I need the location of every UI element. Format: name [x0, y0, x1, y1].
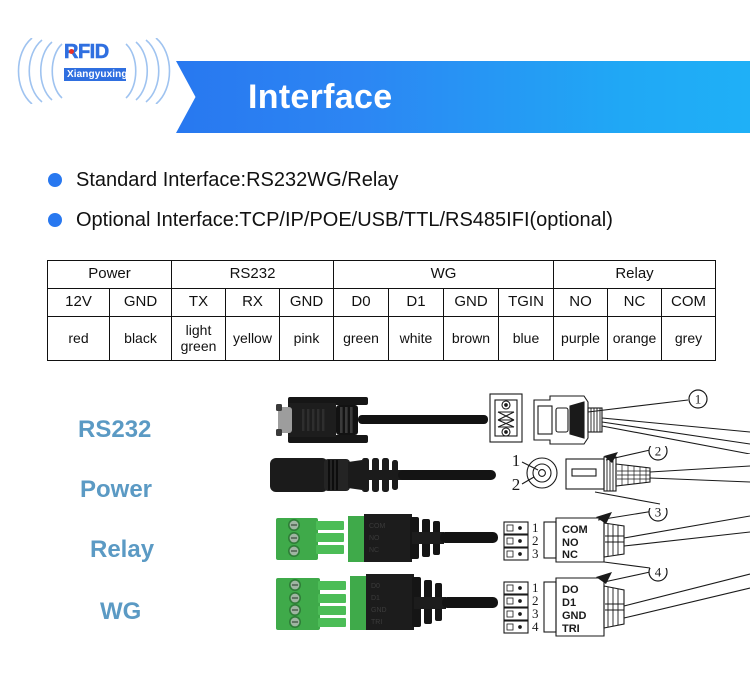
connector-diagram: RS232 Power Relay WG — [0, 378, 750, 690]
table-cell-color: blue — [499, 317, 554, 361]
table-cell-pin: TX — [172, 289, 226, 317]
table-cell-color: brown — [444, 317, 499, 361]
table-cell-pin: GND — [444, 289, 499, 317]
table-cell-pin: NC — [608, 289, 662, 317]
table-cell-color: black — [110, 317, 172, 361]
table-cell-color: light green — [172, 317, 226, 361]
brand-name-label: Xiangyuxing — [64, 68, 126, 81]
callout-number: 4 — [655, 568, 662, 580]
company-logo: RFID Xiangyuxing — [14, 34, 174, 108]
terminal-block-3pin-photo: COMNONC — [272, 512, 502, 564]
table-cell-pin: COM — [662, 289, 716, 317]
table-group-header: RS232 — [172, 261, 334, 289]
table-cell-color: pink — [280, 317, 334, 361]
callout-3: 3 — [649, 508, 667, 521]
diagram-row-label-wg: WG — [100, 598, 141, 626]
table-cell-color: red — [48, 317, 110, 361]
relay-signal-label-com: COM — [562, 524, 588, 536]
callout-number: 1 — [695, 392, 702, 407]
signal-waves-icon — [16, 38, 68, 104]
bullet-text: Optional Interface:TCP/IP/POE/USB/TTL/RS… — [76, 209, 613, 232]
table-group-header: Power — [48, 261, 172, 289]
svg-text:TRI: TRI — [371, 619, 382, 626]
terminal-block-4pin-photo: D0D1GNDTRI — [272, 574, 502, 632]
table-row-pins: 12V GND TX RX GND D0 D1 GND TGIN NO NC C… — [48, 289, 716, 317]
svg-text:GND: GND — [371, 607, 387, 614]
svg-text:D1: D1 — [371, 595, 380, 602]
table-cell-pin: TGIN — [499, 289, 554, 317]
dc-barrel-jack-linedrawing: 1 2 2 — [500, 446, 750, 506]
bullet-dot-icon — [48, 173, 62, 187]
table-cell-color: green — [334, 317, 389, 361]
table-cell-pin: NO — [554, 289, 608, 317]
table-group-header: WG — [334, 261, 554, 289]
list-item: Optional Interface:TCP/IP/POE/USB/TTL/RS… — [48, 200, 738, 240]
db9-connector-photo — [262, 390, 492, 450]
table-cell-color: white — [389, 317, 444, 361]
diagram-row-label-relay: Relay — [90, 536, 154, 564]
table-cell-pin: GND — [280, 289, 334, 317]
section-banner: Interface — [176, 61, 750, 133]
table-group-header: Relay — [554, 261, 716, 289]
page-header: RFID Xiangyuxing Interface — [0, 28, 750, 116]
db9-connector-linedrawing: 1 — [488, 388, 750, 454]
power-pin-label-2: 2 — [512, 475, 521, 494]
table-cell-color: orange — [608, 317, 662, 361]
callout-1: 1 — [689, 390, 707, 408]
interface-bullet-list: Standard Interface:RS232WG/Relay Optiona… — [48, 160, 738, 240]
power-pin-label-1: 1 — [512, 451, 521, 470]
table-cell-pin: RX — [226, 289, 280, 317]
wg-signal-label-do: DO — [562, 584, 579, 596]
relay-pin-label-3: 3 — [532, 546, 539, 561]
callout-4: 4 — [649, 568, 667, 581]
svg-text:D0: D0 — [371, 583, 380, 590]
list-item: Standard Interface:RS232WG/Relay — [48, 160, 738, 200]
relay-signal-label-nc: NC — [562, 549, 578, 561]
diagram-row-label-rs232: RS232 — [78, 416, 151, 444]
terminal-block-4pin-linedrawing: 1 2 3 4 DO D1 GND TRI 4 — [500, 568, 750, 640]
wg-pin-label-4: 4 — [532, 619, 539, 634]
svg-text:NC: NC — [369, 547, 379, 554]
table-cell-pin: 12V — [48, 289, 110, 317]
callout-number: 2 — [655, 446, 662, 459]
svg-text:COM: COM — [369, 523, 386, 530]
red-dot-icon — [69, 49, 74, 54]
bullet-dot-icon — [48, 213, 62, 227]
page-title: Interface — [248, 78, 392, 117]
table-cell-pin: GND — [110, 289, 172, 317]
wg-signal-label-d1: D1 — [562, 597, 576, 609]
callout-number: 3 — [655, 508, 662, 520]
rfid-text-row: RFID — [64, 42, 126, 66]
logo-wordmark: RFID Xiangyuxing — [64, 42, 126, 96]
table-cell-pin: D0 — [334, 289, 389, 317]
table-cell-pin: D1 — [389, 289, 444, 317]
callout-2: 2 — [649, 446, 667, 460]
signal-waves-icon-right — [120, 38, 172, 104]
table-cell-color: grey — [662, 317, 716, 361]
table-row-colors: red black light green yellow pink green … — [48, 317, 716, 361]
terminal-block-3pin-linedrawing: 1 2 3 COM NO NC 3 — [500, 508, 750, 570]
dc-barrel-jack-photo — [268, 450, 498, 500]
wg-signal-label-gnd: GND — [562, 610, 587, 622]
table-cell-color: yellow — [226, 317, 280, 361]
bullet-text: Standard Interface:RS232WG/Relay — [76, 169, 398, 192]
table-cell-color: purple — [554, 317, 608, 361]
svg-text:NO: NO — [369, 535, 380, 542]
wg-signal-label-tri: TRI — [562, 623, 580, 635]
table-row-groups: Power RS232 WG Relay — [48, 261, 716, 289]
diagram-row-label-power: Power — [80, 476, 152, 504]
wire-color-table: Power RS232 WG Relay 12V GND TX RX GND D… — [47, 260, 716, 361]
relay-signal-label-no: NO — [562, 537, 579, 549]
